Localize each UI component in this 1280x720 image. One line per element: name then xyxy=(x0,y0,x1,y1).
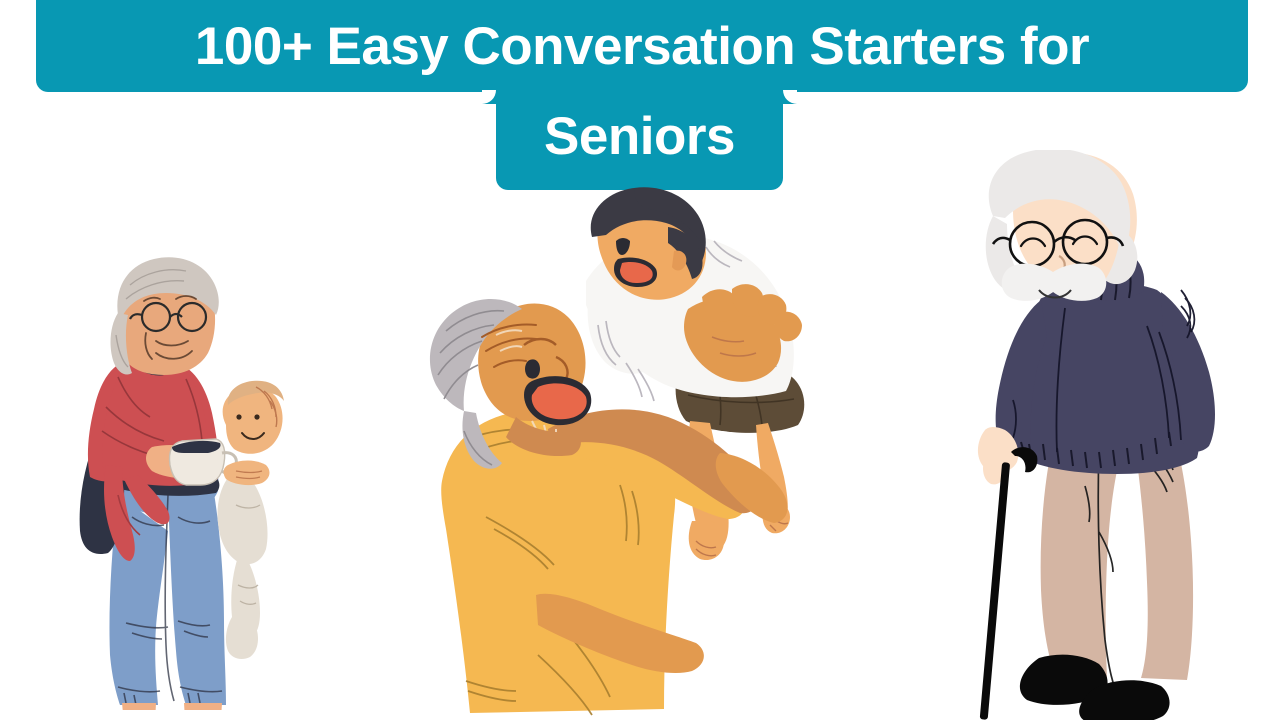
jeans-right-leg xyxy=(168,493,226,705)
illustration-grandmother-holding-baby xyxy=(60,165,320,710)
left-ankle xyxy=(122,703,156,710)
banner-notch-left xyxy=(482,90,496,104)
child-foot-left xyxy=(689,521,724,560)
grandmother-body-group xyxy=(80,257,249,710)
poster-canvas: 100+ Easy Conversation Starters for Seni… xyxy=(0,0,1280,720)
cane-shaft xyxy=(980,462,1010,720)
baby-eye-left xyxy=(236,414,241,419)
title-banner-line-2: Seniors xyxy=(496,90,783,190)
baby-eye-right xyxy=(254,414,259,419)
banner-notch-right xyxy=(783,90,797,104)
illustration-grandfather-lifting-child xyxy=(420,185,840,720)
baby-onesie xyxy=(218,474,268,564)
illustration-elderly-man-with-cane xyxy=(955,150,1245,720)
elderly-man-group xyxy=(978,150,1215,720)
baby-group xyxy=(218,381,285,659)
title-text-line-1: 100+ Easy Conversation Starters for xyxy=(195,16,1089,77)
title-text-line-2: Seniors xyxy=(544,106,735,167)
grandfather-eye xyxy=(525,359,540,378)
title-banner-line-1: 100+ Easy Conversation Starters for xyxy=(36,0,1248,92)
right-ankle xyxy=(184,703,222,710)
